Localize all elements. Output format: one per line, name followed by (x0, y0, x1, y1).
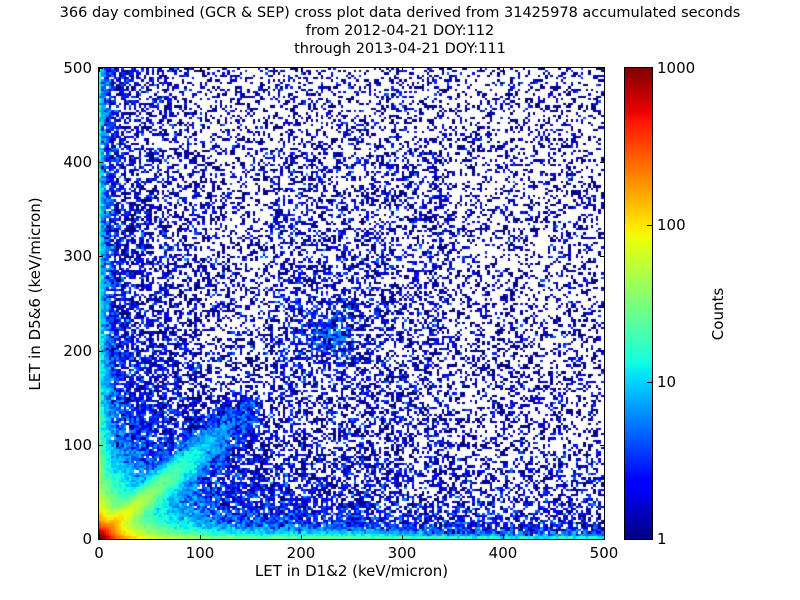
x-tick-mark (604, 535, 605, 539)
y-tick-label: 400 (26, 153, 92, 171)
title-line-2: from 2012-04-21 DOY:112 (0, 22, 800, 40)
title-line-3: through 2013-04-21 DOY:111 (0, 40, 800, 58)
colorbar-label: Counts (709, 234, 727, 394)
y-tick-mark-right (600, 351, 604, 352)
y-tick-mark-right (600, 539, 604, 540)
x-tick-mark-top (604, 68, 605, 72)
x-axis-label: LET in D1&2 (keV/micron) (98, 562, 605, 580)
y-tick-mark-right (600, 162, 604, 163)
y-tick-mark (99, 539, 103, 540)
colorbar-tick-label: 100 (657, 216, 686, 234)
colorbar-gradient (625, 68, 652, 539)
y-tick-label: 100 (26, 436, 92, 454)
x-tick-mark-top (503, 68, 504, 72)
y-axis-label: LET in D5&6 (keV/micron) (26, 194, 44, 394)
x-tick-mark-top (402, 68, 403, 72)
plot-area (98, 67, 605, 540)
x-tick-mark-top (99, 68, 100, 72)
colorbar-tick-mark (647, 382, 652, 383)
x-tick-label: 300 (388, 544, 417, 562)
title-line-1: 366 day combined (GCR & SEP) cross plot … (0, 4, 800, 22)
x-tick-mark (200, 535, 201, 539)
y-tick-mark (99, 351, 103, 352)
y-tick-mark (99, 256, 103, 257)
x-tick-label: 400 (489, 544, 518, 562)
x-tick-mark (99, 535, 100, 539)
y-tick-mark (99, 445, 103, 446)
x-tick-mark-top (301, 68, 302, 72)
x-tick-mark (402, 535, 403, 539)
figure-canvas: 366 day combined (GCR & SEP) cross plot … (0, 0, 800, 600)
y-tick-mark-right (600, 256, 604, 257)
histogram-image (99, 68, 604, 539)
x-tick-mark (301, 535, 302, 539)
y-tick-label: 500 (26, 59, 92, 77)
y-tick-mark (99, 162, 103, 163)
colorbar-tick-label: 1000 (657, 59, 695, 77)
x-tick-label: 200 (287, 544, 316, 562)
figure-title: 366 day combined (GCR & SEP) cross plot … (0, 4, 800, 58)
x-tick-label: 0 (94, 544, 104, 562)
colorbar-tick-mark (647, 225, 652, 226)
x-tick-label: 100 (186, 544, 215, 562)
y-tick-label: 0 (26, 530, 92, 548)
colorbar-tick-label: 10 (657, 373, 676, 391)
x-tick-mark (503, 535, 504, 539)
colorbar (624, 67, 653, 540)
x-tick-label: 500 (590, 544, 619, 562)
colorbar-tick-label: 1 (657, 530, 667, 548)
y-tick-mark-right (600, 445, 604, 446)
x-tick-mark-top (200, 68, 201, 72)
